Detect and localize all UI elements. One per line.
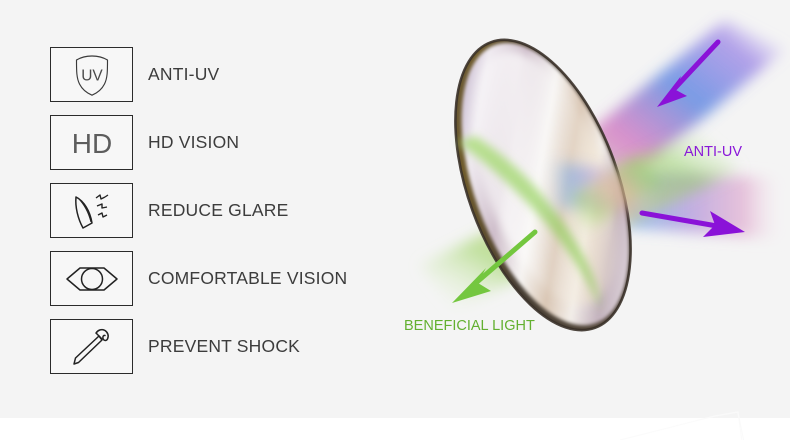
feature-label-prevent-shock: PREVENT SHOCK — [148, 336, 300, 357]
hd-icon-text: HD — [71, 128, 111, 159]
uv-shield-icon: UV — [69, 53, 115, 97]
uv-icon-text: UV — [81, 67, 103, 84]
anti-uv-label: ANTI-UV — [684, 144, 742, 160]
feature-row-anti-uv: UV ANTI-UV — [50, 47, 450, 102]
feature-label-anti-uv: ANTI-UV — [148, 64, 219, 85]
reduce-glare-icon — [67, 189, 117, 233]
hammer-icon-box — [50, 319, 133, 374]
feature-label-reduce-glare: REDUCE GLARE — [148, 200, 289, 221]
feature-row-prevent-shock: PREVENT SHOCK — [50, 319, 450, 374]
feature-label-comfortable-vision: COMFORTABLE VISION — [148, 268, 347, 289]
faint-background-shape — [620, 402, 790, 440]
hammer-icon — [69, 325, 115, 369]
hd-text-icon: HD — [66, 123, 118, 163]
product-feature-graphic: UV ANTI-UV HD HD VISION — [0, 0, 790, 440]
beneficial-light-label: BENEFICIAL LIGHT — [404, 318, 535, 334]
feature-row-comfortable-vision: COMFORTABLE VISION — [50, 251, 450, 306]
eye-icon — [64, 262, 120, 296]
feature-row-hd-vision: HD HD VISION — [50, 115, 450, 170]
feature-label-hd-vision: HD VISION — [148, 132, 239, 153]
eye-icon-box — [50, 251, 133, 306]
uv-shield-icon-box: UV — [50, 47, 133, 102]
feature-row-reduce-glare: REDUCE GLARE — [50, 183, 450, 238]
feature-list: UV ANTI-UV HD HD VISION — [50, 47, 450, 387]
hd-text-icon-box: HD — [50, 115, 133, 170]
reduce-glare-icon-box — [50, 183, 133, 238]
